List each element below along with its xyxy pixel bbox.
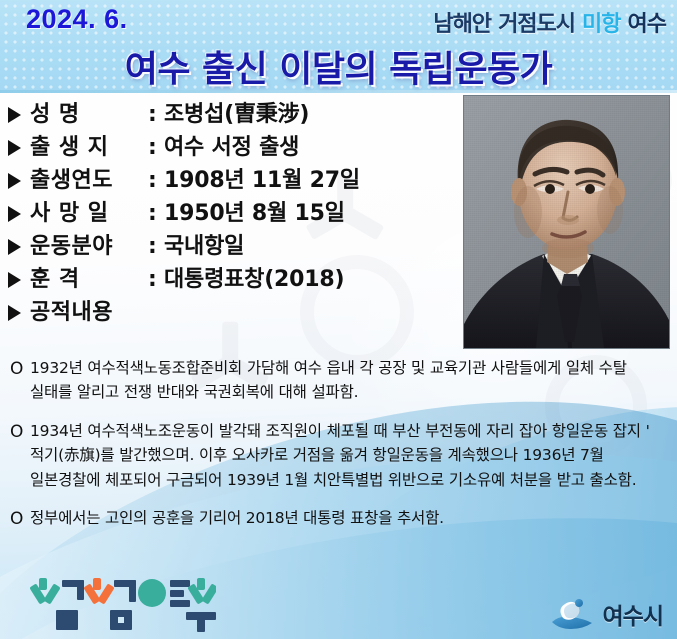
triangle-bullet-icon xyxy=(8,239,21,255)
fact-row: 출 생 지 : 여수 서정 출생 xyxy=(8,129,458,162)
fact-value: 1950년 8월 15일 xyxy=(164,195,345,227)
fact-label: 운동분야 xyxy=(30,228,148,260)
fact-value: 국내항일 xyxy=(164,228,244,260)
fact-label: 출생연도 xyxy=(30,162,148,194)
triangle-bullet-icon xyxy=(8,140,21,156)
brand-part-1: 남해안 xyxy=(433,6,491,38)
paragraph-text: 1932년 여수적색노동조합준비회 가담해 여수 읍내 각 공장 및 교육기관 … xyxy=(30,356,670,405)
city-logo-label: 여수시 xyxy=(603,597,663,631)
circle-bullet-icon: O xyxy=(10,356,30,405)
publication-date: 2024. 6. xyxy=(26,4,128,35)
brand-part-4: 여수 xyxy=(628,6,666,38)
fact-colon: : xyxy=(148,267,164,292)
fact-row: 공적내용 xyxy=(8,294,458,327)
fact-row: 사 망 일 : 1950년 8월 15일 xyxy=(8,195,458,228)
brand-part-3: 미항 xyxy=(582,6,620,38)
brand-part-2: 거점도시 xyxy=(498,6,575,38)
portrait-photo xyxy=(463,95,670,349)
fact-colon: : xyxy=(148,234,164,259)
paragraph-item: O 1934년 여수적색노조운동이 발각돼 조직원이 체포될 때 부산 부전동에… xyxy=(10,419,670,492)
triangle-bullet-icon xyxy=(8,173,21,189)
paragraph-text: 1934년 여수적색노조운동이 발각돼 조직원이 체포될 때 부산 부전동에 자… xyxy=(30,419,670,492)
poster-root: 2024. 6. 남해안 거점도시 미항 여수 여수 출신 이달의 독립운동가 xyxy=(0,0,677,639)
circle-bullet-icon: O xyxy=(10,506,30,532)
circle-bullet-icon: O xyxy=(10,419,30,492)
fact-row: 운동분야 : 국내항일 xyxy=(8,228,458,261)
paragraph-item: O 1932년 여수적색노동조합준비회 가담해 여수 읍내 각 공장 및 교육기… xyxy=(10,356,670,405)
page-title: 여수 출신 이달의 독립운동가 xyxy=(0,40,677,92)
fact-label: 공적내용 xyxy=(30,294,113,326)
yeosu-city-logo: 여수시 xyxy=(549,597,663,631)
fact-value: 1908년 11월 27일 xyxy=(164,162,360,194)
fact-colon: : xyxy=(148,168,164,193)
fact-value: 여수 서정 출생 xyxy=(164,129,299,161)
triangle-bullet-icon xyxy=(8,107,21,123)
fact-label: 사 망 일 xyxy=(30,195,148,227)
fact-value: 조병섭(曺秉涉) xyxy=(164,96,309,128)
fact-label: 출 생 지 xyxy=(30,129,148,161)
fact-label: 훈 격 xyxy=(30,261,148,293)
fact-row: 출생연도 : 1908년 11월 27일 xyxy=(8,162,458,195)
fact-colon: : xyxy=(148,102,164,127)
achievement-paragraphs: O 1932년 여수적색노동조합준비회 가담해 여수 읍내 각 공장 및 교육기… xyxy=(10,356,670,547)
triangle-bullet-icon xyxy=(8,305,21,321)
triangle-bullet-icon xyxy=(8,272,21,288)
fact-row: 성 명 : 조병섭(曺秉涉) xyxy=(8,96,458,129)
city-mark-icon xyxy=(549,598,595,630)
seomseom-yeosu-logo xyxy=(30,578,216,636)
fact-label: 성 명 xyxy=(30,96,148,128)
paragraph-text: 정부에서는 고인의 공훈을 기리어 2018년 대통령 표창을 추서함. xyxy=(30,506,444,532)
paragraph-item: O 정부에서는 고인의 공훈을 기리어 2018년 대통령 표창을 추서함. xyxy=(10,506,670,532)
city-brand-lockup: 남해안 거점도시 미항 여수 xyxy=(433,6,666,38)
fact-value: 대통령표창(2018) xyxy=(164,261,344,293)
fact-colon: : xyxy=(148,201,164,226)
fact-list: 성 명 : 조병섭(曺秉涉) 출 생 지 : 여수 서정 출생 출생연도 : 1… xyxy=(8,96,458,327)
fact-row: 훈 격 : 대통령표창(2018) xyxy=(8,261,458,294)
fact-colon: : xyxy=(148,135,164,160)
triangle-bullet-icon xyxy=(8,206,21,222)
